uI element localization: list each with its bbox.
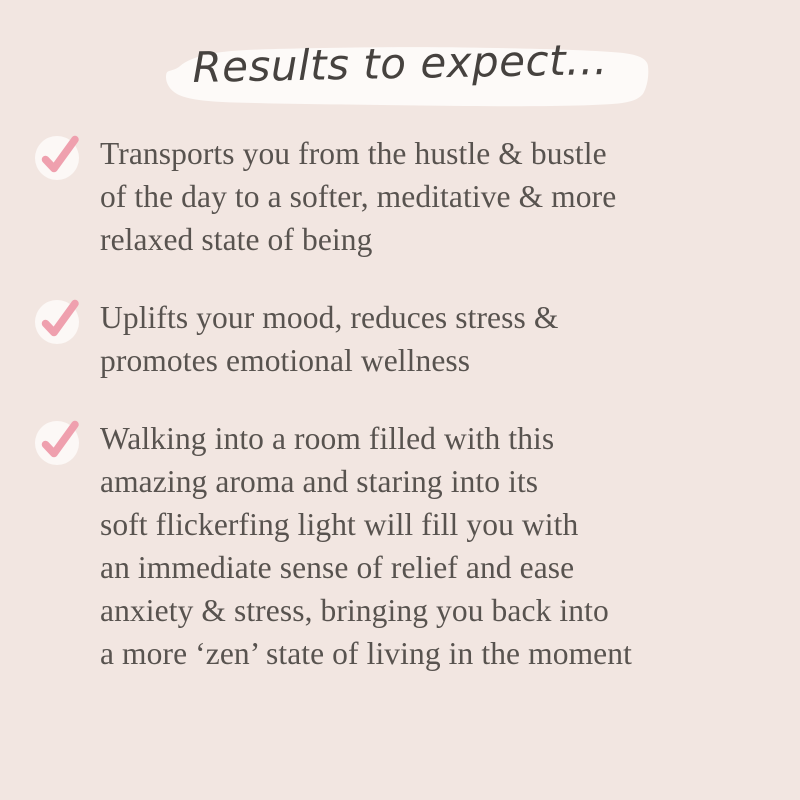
benefits-list: Transports you from the hustle & bustle … — [0, 132, 800, 675]
page-title: Results to expect... — [0, 28, 800, 99]
list-item: Transports you from the hustle & bustle … — [0, 132, 800, 261]
list-item-text: Transports you from the hustle & bustle … — [100, 132, 800, 261]
header: Results to expect... — [0, 36, 800, 116]
results-to-expect-card: Results to expect... Transports you from… — [0, 0, 800, 800]
list-item-text: Walking into a room filled with this ama… — [100, 417, 800, 675]
check-circle-icon — [34, 298, 82, 346]
list-item: Walking into a room filled with this ama… — [0, 417, 800, 675]
check-circle-icon — [34, 419, 82, 467]
check-circle-icon — [34, 134, 82, 182]
list-item: Uplifts your mood, reduces stress & prom… — [0, 296, 800, 382]
list-item-text: Uplifts your mood, reduces stress & prom… — [100, 296, 800, 382]
